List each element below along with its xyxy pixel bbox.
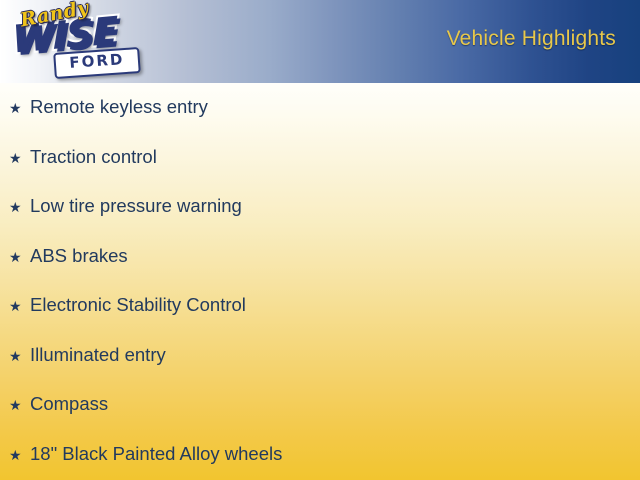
star-icon: ★ (9, 448, 30, 462)
highlight-label: ABS brakes (30, 247, 128, 266)
slide-header: WISE Randy FORD Vehicle Highlights (0, 0, 640, 83)
star-icon: ★ (9, 151, 30, 165)
logo-ford-text: FORD (55, 51, 138, 72)
highlight-label: Illuminated entry (30, 346, 166, 365)
star-icon: ★ (9, 101, 30, 115)
list-item: ★Electronic Stability Control (0, 296, 640, 346)
highlight-label: Electronic Stability Control (30, 296, 246, 315)
highlights-panel: ★Remote keyless entry★Traction control★L… (0, 83, 640, 480)
dealer-logo: WISE Randy FORD (6, 2, 146, 80)
page-title: Vehicle Highlights (447, 27, 616, 51)
logo-ford-banner: FORD (53, 47, 141, 79)
vehicle-highlights-slide: WISE Randy FORD Vehicle Highlights ★Remo… (0, 0, 640, 480)
star-icon: ★ (9, 299, 30, 313)
list-item: ★Remote keyless entry (0, 83, 640, 148)
highlight-label: Remote keyless entry (30, 98, 208, 117)
star-icon: ★ (9, 250, 30, 264)
highlight-label: Compass (30, 395, 108, 414)
star-icon: ★ (9, 349, 30, 363)
star-icon: ★ (9, 398, 30, 412)
list-item: ★Low tire pressure warning (0, 197, 640, 247)
list-item: ★Traction control (0, 148, 640, 198)
highlight-label: Low tire pressure warning (30, 197, 242, 216)
highlights-list: ★Remote keyless entry★Traction control★L… (0, 83, 640, 480)
list-item: ★ABS brakes (0, 247, 640, 297)
list-item: ★Compass (0, 395, 640, 445)
list-item: ★Illuminated entry (0, 346, 640, 396)
highlight-label: Traction control (30, 148, 157, 167)
star-icon: ★ (9, 200, 30, 214)
list-item: ★18" Black Painted Alloy wheels (0, 445, 640, 480)
highlight-label: 18" Black Painted Alloy wheels (30, 445, 282, 464)
